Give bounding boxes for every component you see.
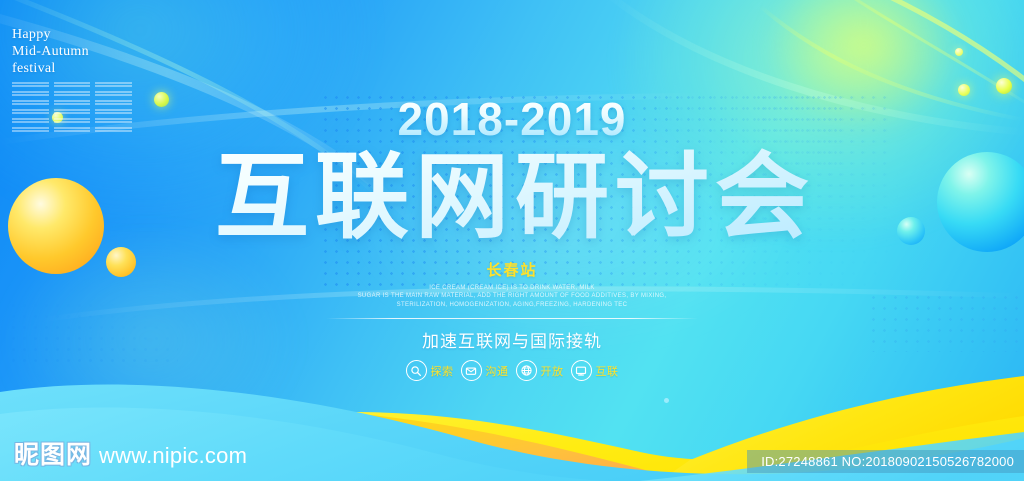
station-label: 长春站 [0, 259, 1024, 280]
watermark-url: www.nipic.com [99, 443, 247, 469]
micro-text-cell: The cure sign text [12, 82, 49, 88]
greeting-line-1: Happy [12, 26, 132, 43]
poster-content: 2018-2019 互联网研讨会 长春站 ICE CREAM (CREAM IC… [0, 96, 1024, 381]
micro-text-cell: The cure sign text [54, 82, 91, 88]
bokeh-dot-lime-4 [996, 78, 1012, 94]
divider [326, 318, 698, 319]
watermark-brand: 昵图网 [14, 435, 92, 471]
greeting-line-2: Mid-Autumn [12, 43, 132, 60]
page-title: 互联网研讨会 [0, 148, 1024, 247]
micro-text-cell: The cure sign text [95, 82, 132, 88]
fine-print-line-1: ICE CREAM (CREAM ICE) IS TO DRINK WATER,… [0, 284, 1024, 293]
bokeh-dot-lime-3 [958, 84, 970, 96]
event-years: 2018-2019 [0, 96, 1024, 142]
bokeh-dot-lime-5 [955, 48, 963, 56]
fine-print-line-2: SUGAR IS THE MAIN RAW MATERIAL, ADD THE … [0, 292, 1024, 301]
watermark: 昵图网 www.nipic.com [14, 435, 247, 471]
fine-print: ICE CREAM (CREAM ICE) IS TO DRINK WATER,… [0, 284, 1024, 310]
greeting-line-3: festival [12, 60, 132, 77]
tagline: 加速互联网与国际接轨 [0, 327, 1024, 352]
image-id-bar: ID:27248861 NO:20180902150526782000 [747, 450, 1024, 473]
poster-banner: Happy Mid-Autumn festival The cure sign … [0, 0, 1024, 481]
fine-print-line-3: STERILIZATION, HOMOGENIZATION, AGING,FRE… [0, 301, 1024, 310]
